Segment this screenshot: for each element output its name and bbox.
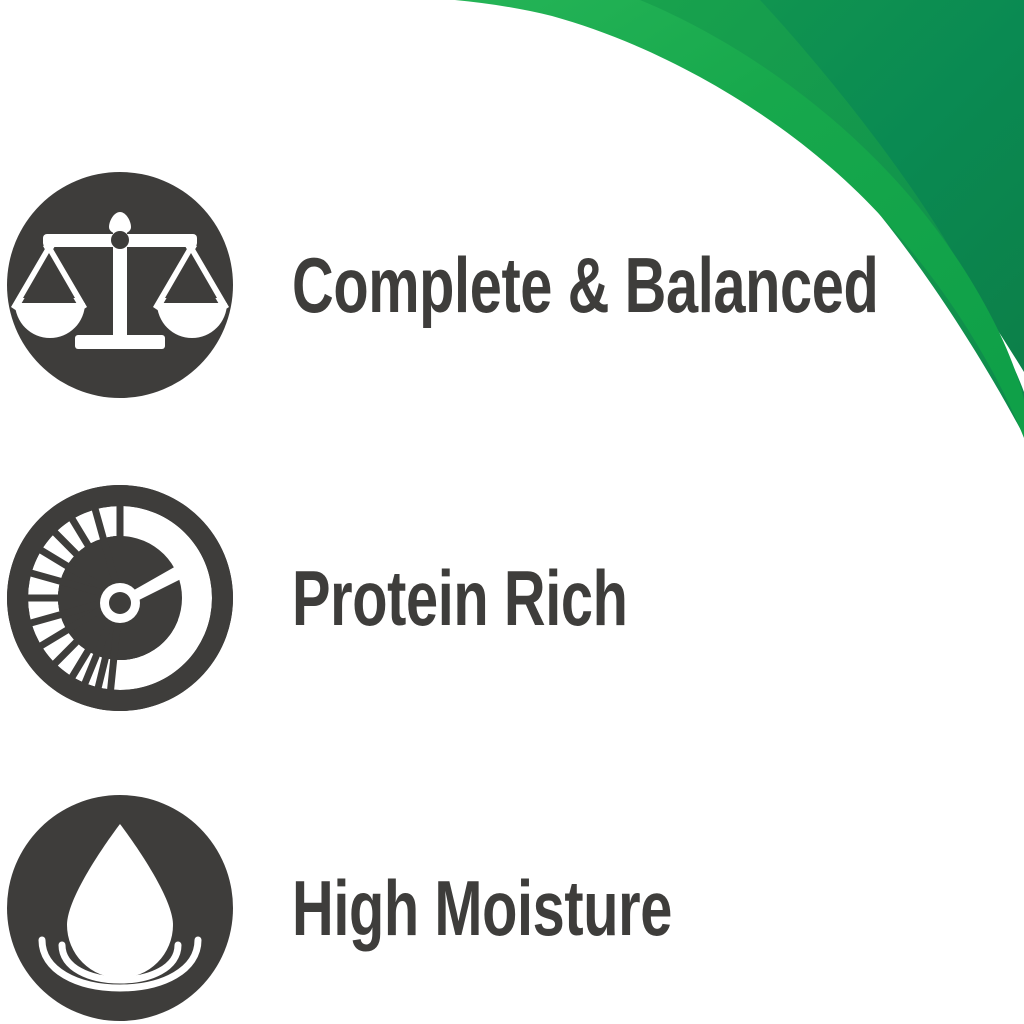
feature-row: Complete & Balanced <box>0 172 1024 398</box>
balance-scale-icon <box>7 172 233 398</box>
feature-row: Protein Rich <box>0 485 1024 711</box>
feature-label: Protein Rich <box>292 559 628 637</box>
water-droplet-icon <box>7 795 233 1021</box>
feature-row: High Moisture <box>0 795 1024 1021</box>
feature-label: High Moisture <box>292 869 672 947</box>
gauge-meter-icon <box>7 485 233 711</box>
feature-benefits-panel: Complete & Balanced <box>0 0 1024 1024</box>
feature-label: Complete & Balanced <box>292 246 878 324</box>
